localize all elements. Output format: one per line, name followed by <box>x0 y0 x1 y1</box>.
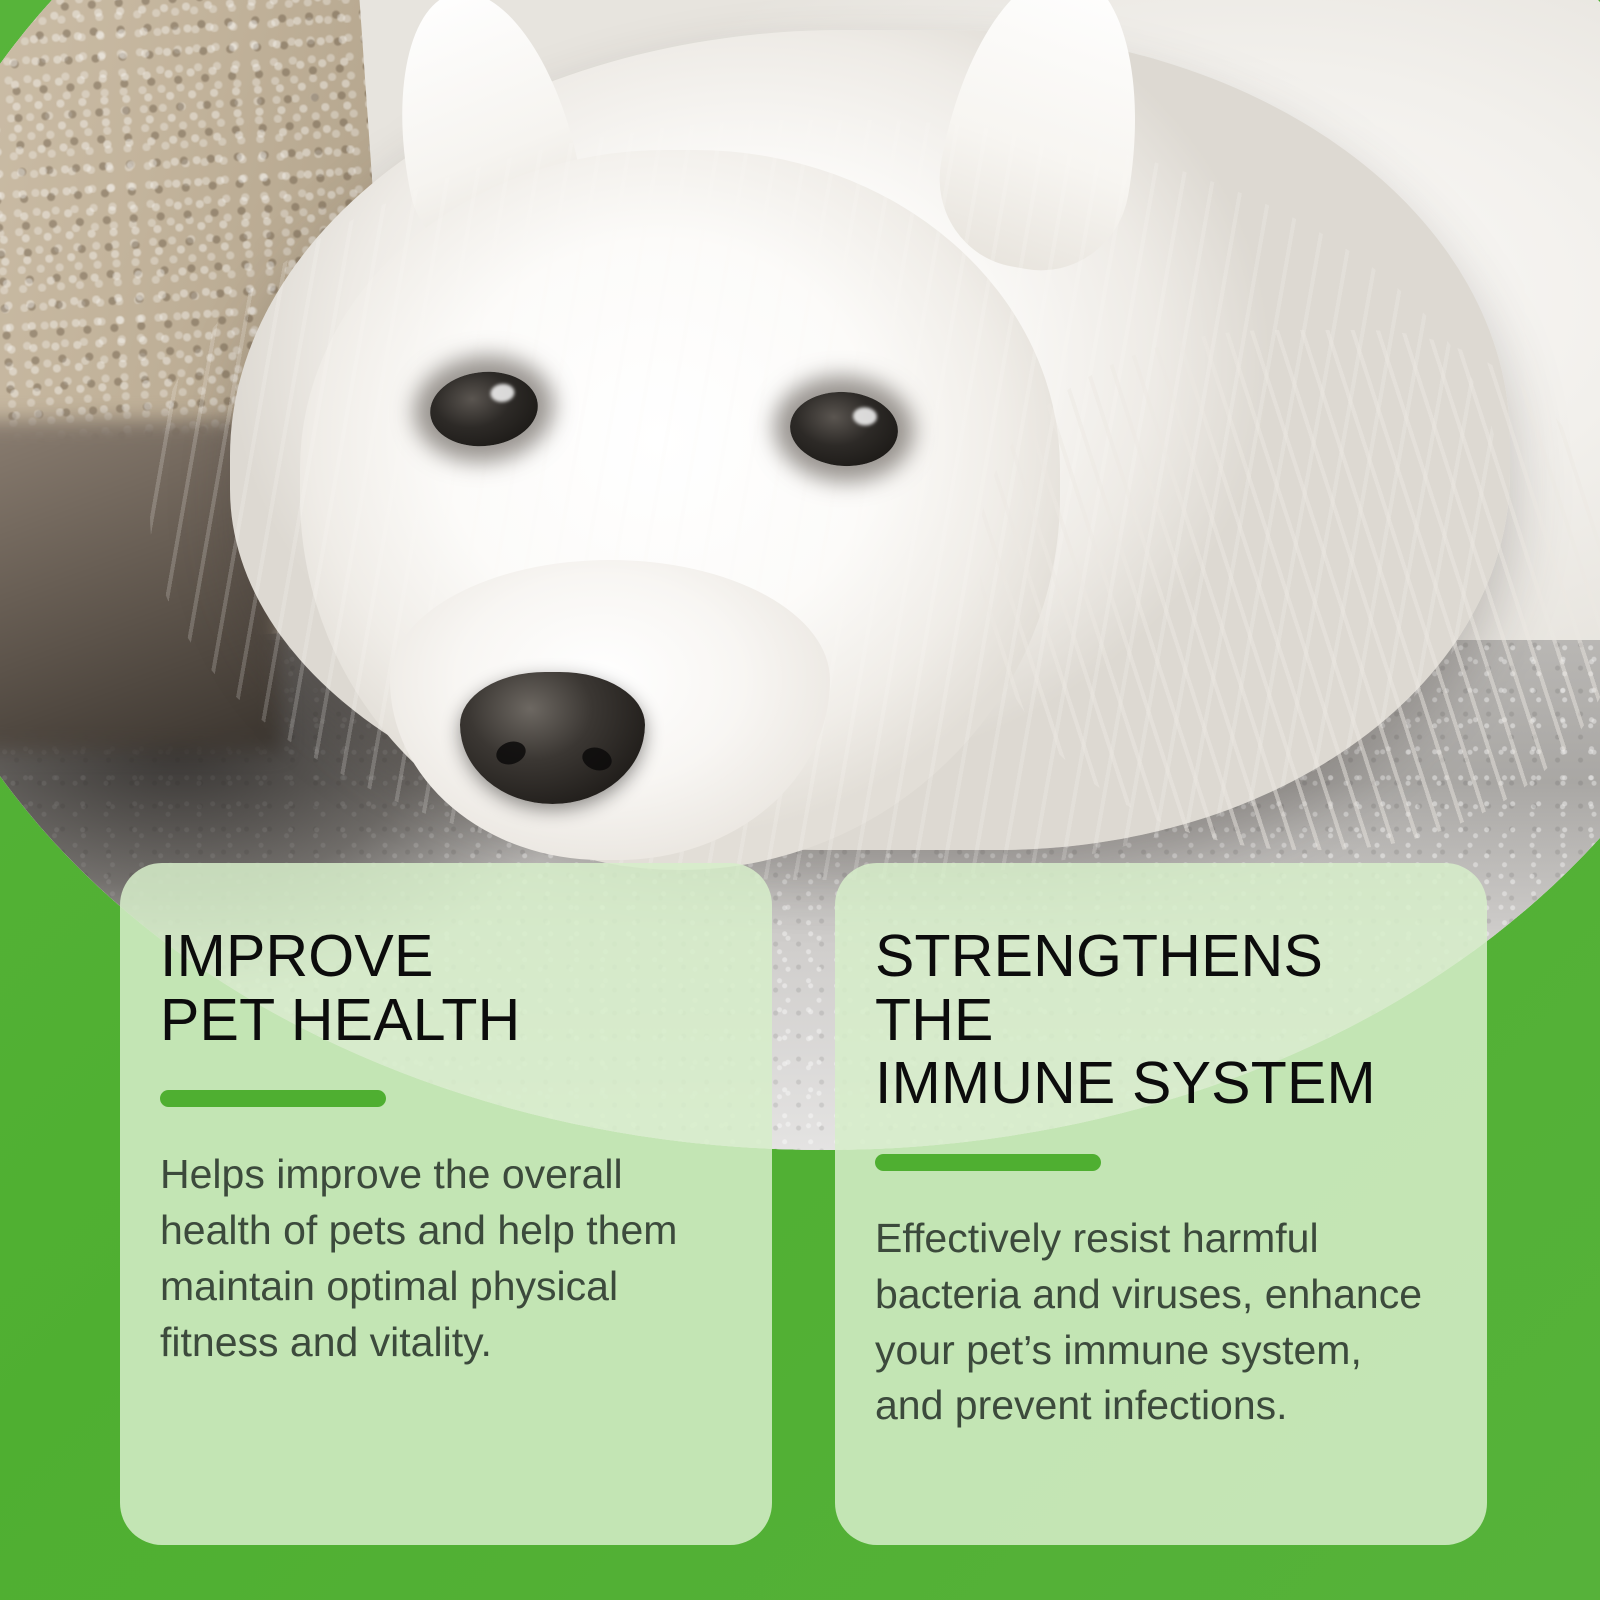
benefit-cards-row: IMPROVE PET HEALTH Helps improve the ove… <box>0 0 1600 1600</box>
card-body-text: Effectively resist harmful bacteria and … <box>875 1211 1435 1434</box>
promo-graphic-canvas: IMPROVE PET HEALTH Helps improve the ove… <box>0 0 1600 1600</box>
card-body-text: Helps improve the overall health of pets… <box>160 1147 720 1370</box>
accent-bar <box>160 1090 386 1107</box>
card-title: IMPROVE PET HEALTH <box>160 925 728 1052</box>
benefit-card-improve-pet-health[interactable]: IMPROVE PET HEALTH Helps improve the ove… <box>120 863 772 1545</box>
benefit-card-strengthens-immune-system[interactable]: STRENGTHENS THE IMMUNE SYSTEM Effectivel… <box>835 863 1487 1545</box>
card-title: STRENGTHENS THE IMMUNE SYSTEM <box>875 925 1443 1116</box>
accent-bar <box>875 1154 1101 1171</box>
